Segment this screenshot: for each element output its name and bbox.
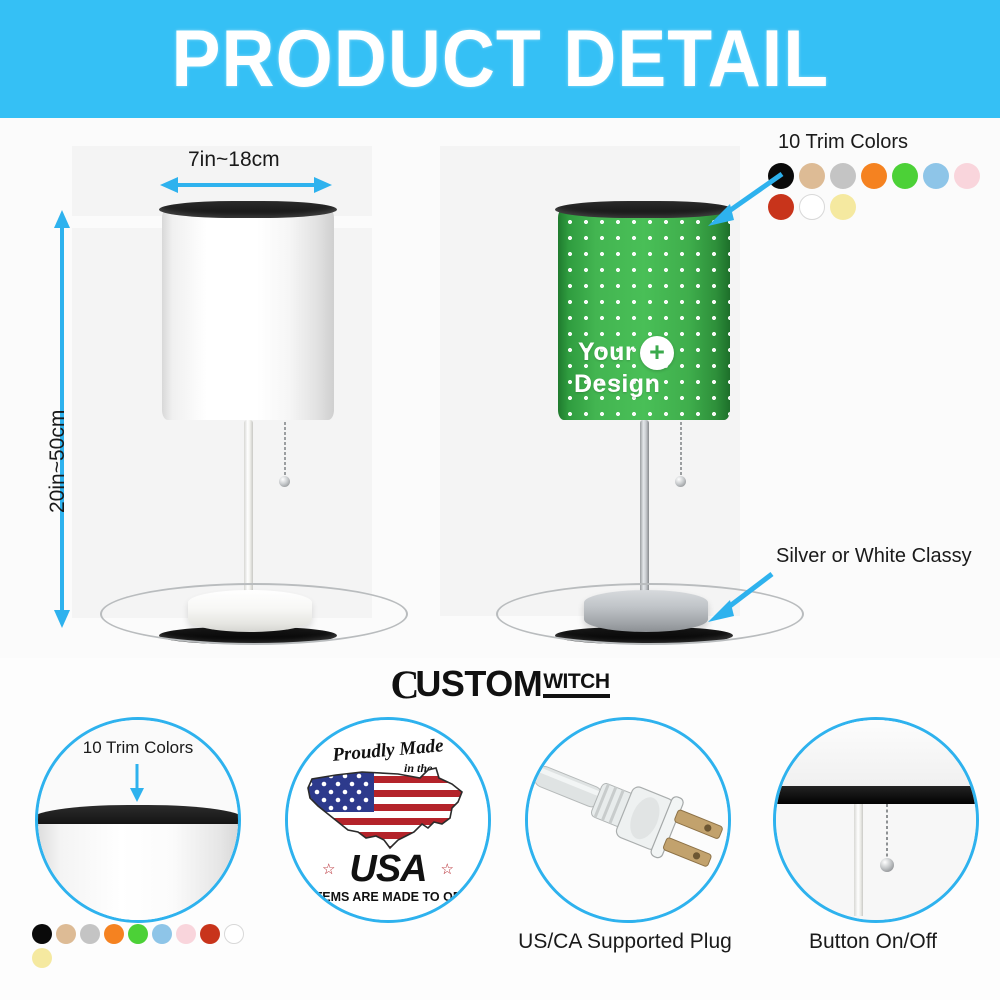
pull-chain	[284, 422, 286, 480]
pull-chain-ball-crop	[880, 858, 894, 872]
plug-circle	[525, 717, 731, 923]
pull-chain-crop	[886, 804, 888, 862]
trim-bar	[776, 786, 976, 804]
plus-icon: +	[640, 336, 674, 370]
swatch-red[interactable]	[200, 924, 220, 944]
pull-chain-ball	[279, 476, 290, 487]
lampshade-white	[162, 208, 334, 420]
swatch-orange[interactable]	[104, 924, 124, 944]
width-dimension-label: 7in~18cm	[188, 148, 280, 172]
width-dimension-arrow	[160, 175, 332, 195]
trim-colors-inner-label: 10 Trim Colors	[83, 738, 194, 758]
swatch-black[interactable]	[32, 924, 52, 944]
swatch-green[interactable]	[128, 924, 148, 944]
lamp-base	[584, 590, 708, 632]
usa-badge: Proudly Made in the	[288, 720, 488, 920]
swatch-orange[interactable]	[861, 163, 887, 189]
swatch-white[interactable]	[799, 194, 825, 220]
pull-chain	[680, 422, 682, 480]
design-line-1: Your	[578, 340, 635, 366]
logo-main-text: USTOM	[415, 663, 542, 705]
base-finish-label: Silver or White Classy	[776, 545, 972, 568]
lamp-stem	[640, 420, 649, 610]
card-label: Button On/Off	[748, 930, 998, 954]
trim-top-ring	[159, 201, 337, 218]
swatch-yellow[interactable]	[830, 194, 856, 220]
power-plug-icon	[532, 748, 728, 898]
shade-body-crop	[35, 824, 241, 923]
shade-bottom-crop	[776, 720, 976, 792]
lamp-left-white	[162, 208, 342, 638]
design-line-2: Design	[574, 372, 660, 398]
swatch-white[interactable]	[224, 924, 244, 944]
usa-star-right-icon: ☆	[441, 860, 454, 878]
card-plug: US/CA Supported Plug	[500, 712, 750, 1000]
base-finish-arrow	[700, 568, 780, 628]
lamp-stem-crop	[854, 804, 863, 916]
swatch-tan[interactable]	[56, 924, 76, 944]
card-label: US/CA Supported Plug	[500, 930, 750, 954]
card-button-onoff: Button On/Off	[748, 712, 998, 1000]
usa-footer-text: ALL ITEMS ARE MADE TO ORDER!	[285, 890, 491, 904]
usa-star-left-icon: ☆	[322, 860, 335, 878]
swatch-green[interactable]	[892, 163, 918, 189]
swatch-pink[interactable]	[954, 163, 980, 189]
usa-map-flag-icon	[302, 762, 474, 854]
made-in-usa-circle: Proudly Made in the	[285, 717, 491, 923]
trim-colors-circle: 10 Trim Colors	[35, 717, 241, 923]
trim-color-swatches-top[interactable]	[768, 163, 1000, 220]
swatch-tan[interactable]	[799, 163, 825, 189]
card-made-in-usa: Proudly Made in the	[260, 712, 510, 1000]
lampshade-surface	[162, 208, 334, 420]
trim-pointer-arrow	[700, 168, 790, 228]
pull-chain-ball	[675, 476, 686, 487]
trim-colors-down-arrow	[126, 764, 148, 802]
detail-cards: 10 Trim Colors Proudly Made in the	[0, 712, 1000, 1000]
usa-text: USA	[349, 848, 426, 891]
swatch-light-blue[interactable]	[923, 163, 949, 189]
swatch-yellow[interactable]	[32, 948, 52, 968]
height-dimension-label: 20in~50cm	[46, 410, 70, 513]
lamp-base	[188, 590, 312, 632]
swatch-pink[interactable]	[176, 924, 196, 944]
swatch-gray[interactable]	[80, 924, 100, 944]
trim-colors-heading: 10 Trim Colors	[778, 131, 908, 154]
product-stage: 7in~18cm 20in~50cm Your + De	[0, 118, 1000, 658]
lampshade-green: Your + Design	[558, 208, 730, 420]
logo-c-mark: C	[390, 661, 415, 708]
brand-logo: C USTOM WITCH	[0, 660, 1000, 708]
product-detail-banner: PRODUCT DETAIL	[0, 0, 1000, 118]
logo-sub-text: WITCH	[543, 670, 609, 697]
swatch-gray[interactable]	[830, 163, 856, 189]
page-title: PRODUCT DETAIL	[171, 13, 829, 105]
card-trim-colors: 10 Trim Colors	[10, 712, 260, 1000]
swatch-light-blue[interactable]	[152, 924, 172, 944]
trim-color-swatches-bottom[interactable]	[32, 924, 252, 968]
lamp-stem	[244, 420, 253, 610]
button-onoff-circle	[773, 717, 979, 923]
